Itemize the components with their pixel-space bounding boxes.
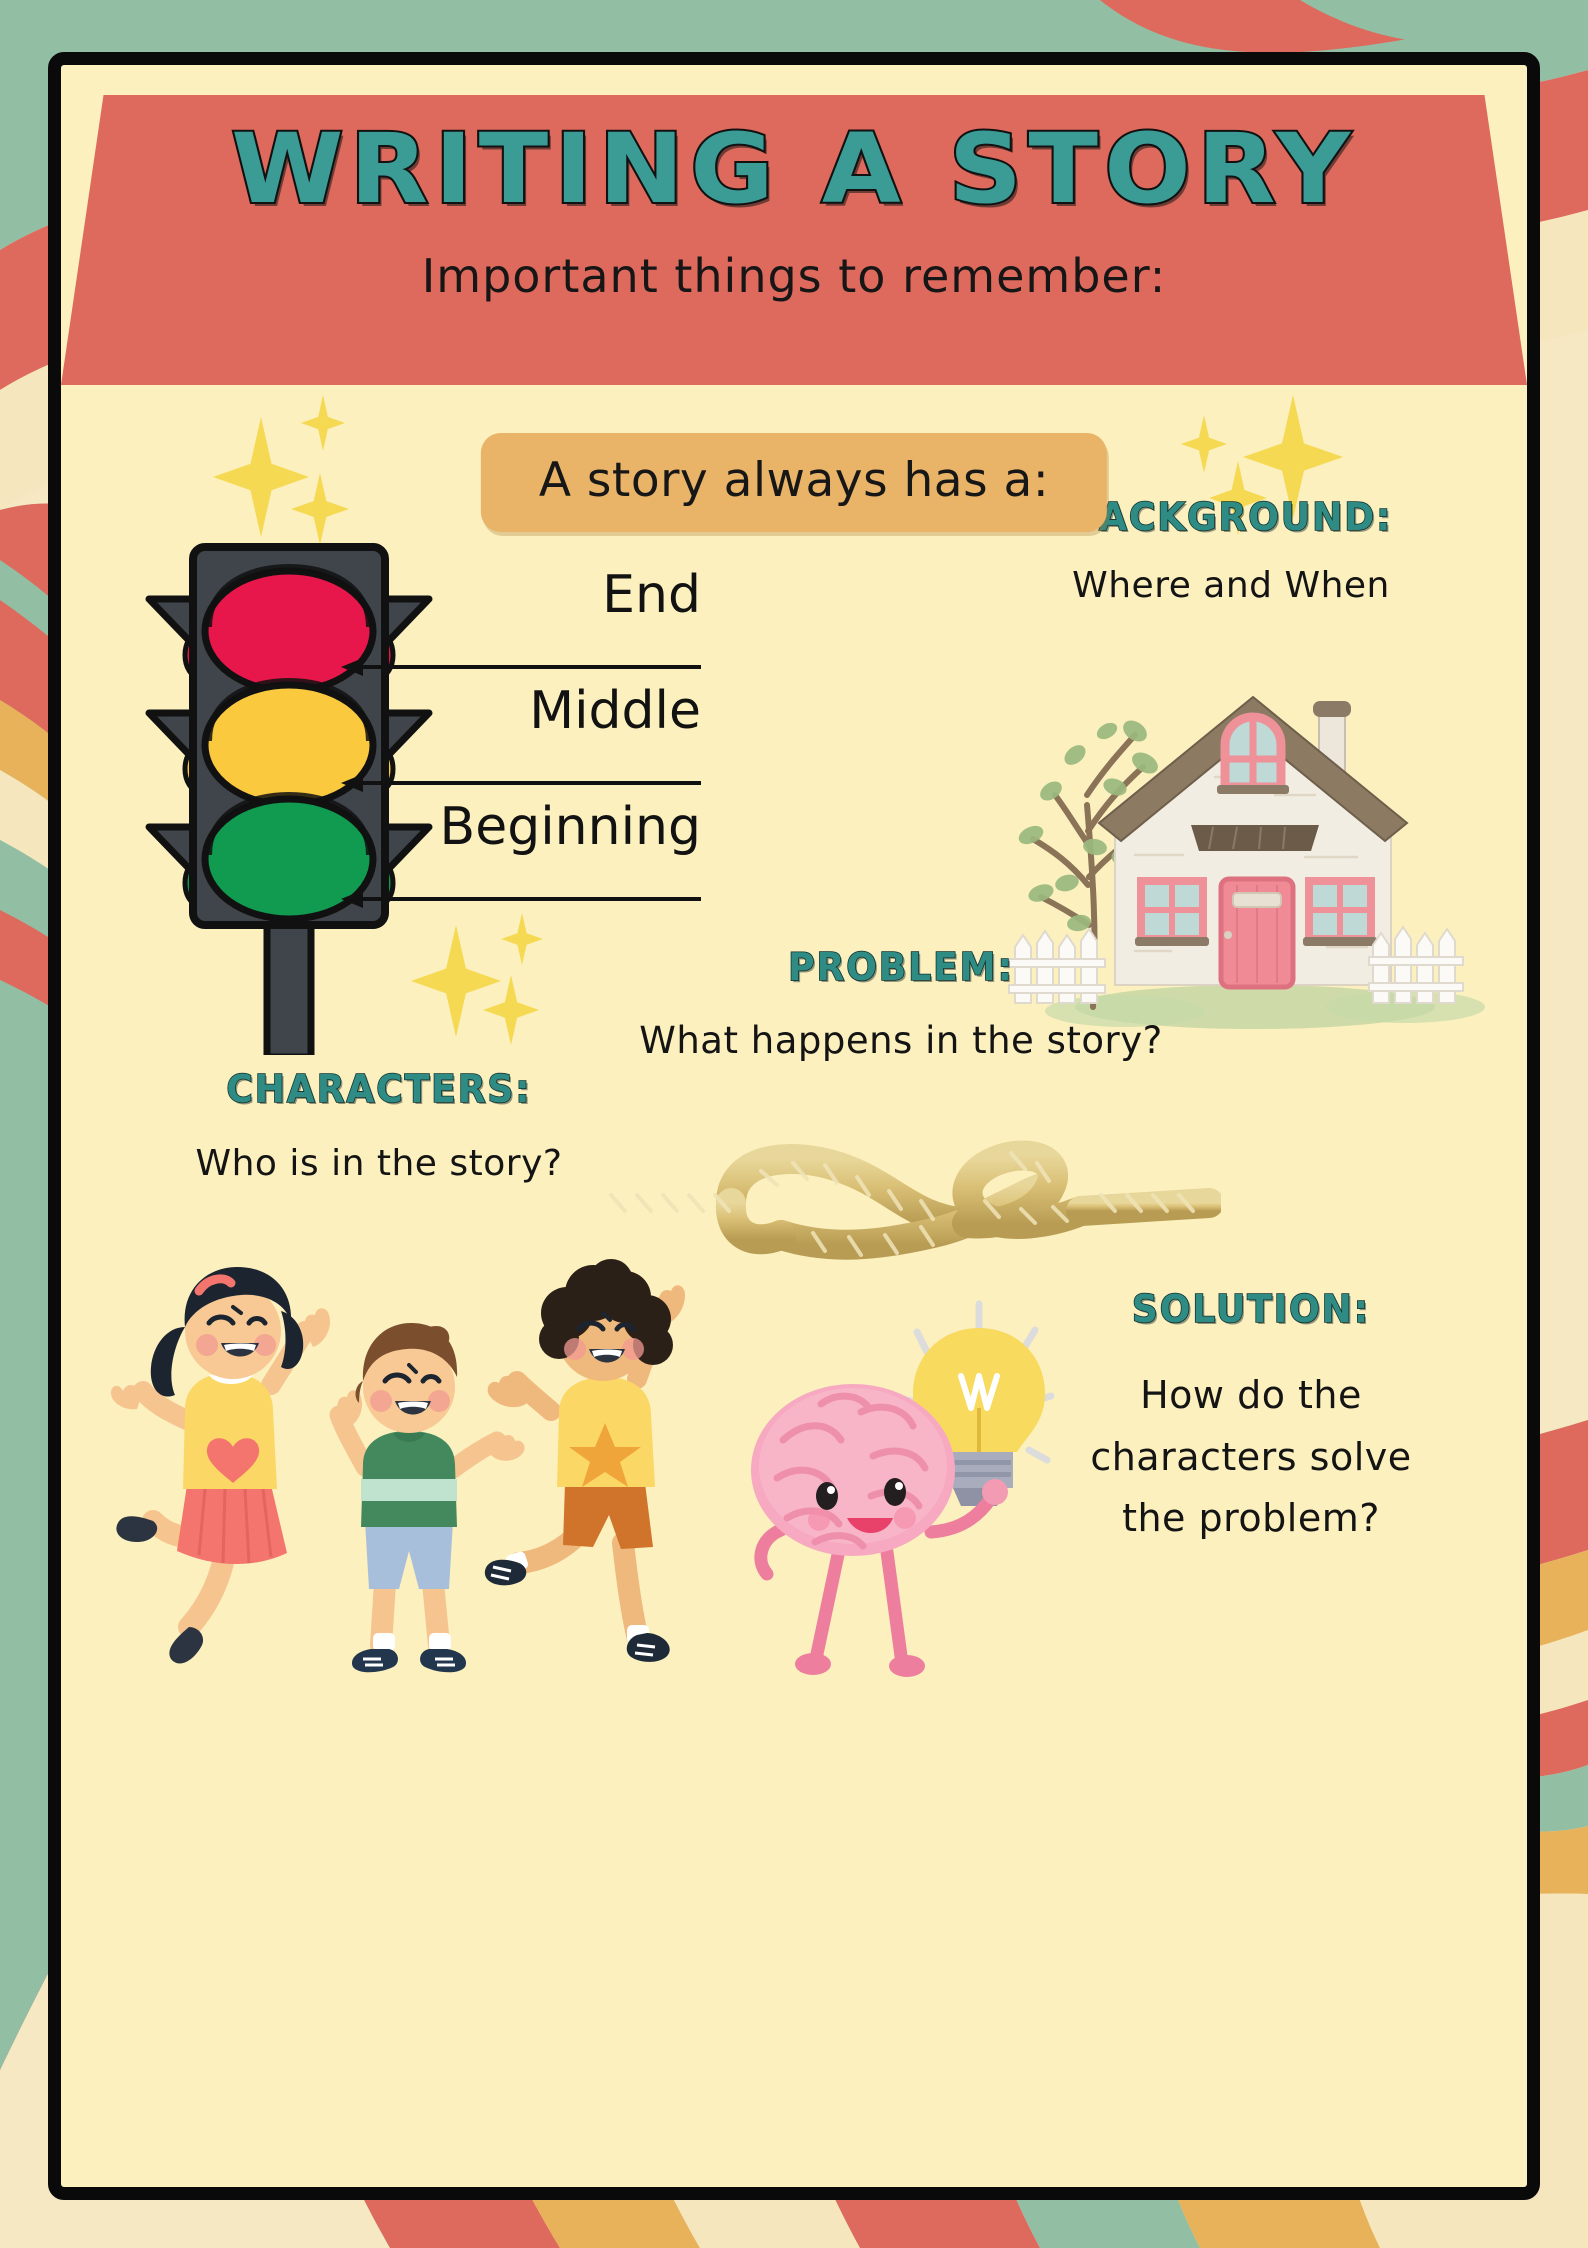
- sparkle-icon: [483, 975, 539, 1045]
- solution-line-1: How do the: [1021, 1365, 1481, 1427]
- sparkle-icon: [301, 395, 345, 451]
- section-heading-solution: SOLUTION:: [1033, 1287, 1470, 1331]
- brain-with-lightbulb-icon: [721, 1280, 1061, 1680]
- section-characters: CHARACTERS: Who is in the story?: [129, 1067, 629, 1184]
- arrow-left-icon: [341, 773, 701, 793]
- arrow-left-icon: [341, 657, 701, 677]
- section-sub-characters: Who is in the story?: [129, 1143, 629, 1184]
- solution-line-2: characters solve: [1021, 1427, 1481, 1489]
- section-heading-characters: CHARACTERS:: [142, 1067, 617, 1111]
- section-problem: PROBLEM: What happens in the story?: [561, 945, 1241, 1062]
- poster-subtitle: Important things to remember:: [422, 249, 1167, 303]
- story-has-pill: A story always has a:: [481, 433, 1107, 532]
- stage-row: Beginning: [361, 797, 701, 913]
- sparkle-cluster-left: [203, 395, 373, 545]
- story-stage-labels: End Middle Beginning: [361, 565, 701, 913]
- section-sub-problem: What happens in the story?: [561, 1019, 1241, 1062]
- header-banner: WRITING A STORY Important things to reme…: [61, 95, 1527, 385]
- poster-root: WRITING A STORY Important things to reme…: [0, 0, 1588, 2248]
- arrow-left-icon: [341, 889, 701, 909]
- poster-card: WRITING A STORY Important things to reme…: [48, 52, 1540, 2200]
- section-heading-problem: PROBLEM:: [578, 945, 1224, 989]
- solution-line-3: the problem?: [1021, 1488, 1481, 1550]
- section-sub-solution: How do the characters solve the problem?: [1021, 1365, 1481, 1550]
- sparkle-icon: [501, 913, 543, 965]
- page-title: WRITING A STORY: [231, 117, 1356, 223]
- section-sub-background: Where and When: [991, 565, 1471, 606]
- section-solution: SOLUTION: How do the characters solve th…: [1021, 1287, 1481, 1550]
- story-has-pill-label: A story always has a:: [539, 453, 1049, 508]
- stage-row: Middle: [361, 681, 701, 797]
- sparkle-icon: [1181, 415, 1227, 473]
- jumping-children-icon: [81, 1235, 701, 1675]
- stage-label-middle: Middle: [529, 681, 701, 741]
- stage-label-beginning: Beginning: [440, 797, 701, 857]
- stage-row: End: [361, 565, 701, 681]
- stage-label-end: End: [602, 565, 701, 625]
- sparkle-icon: [213, 417, 309, 537]
